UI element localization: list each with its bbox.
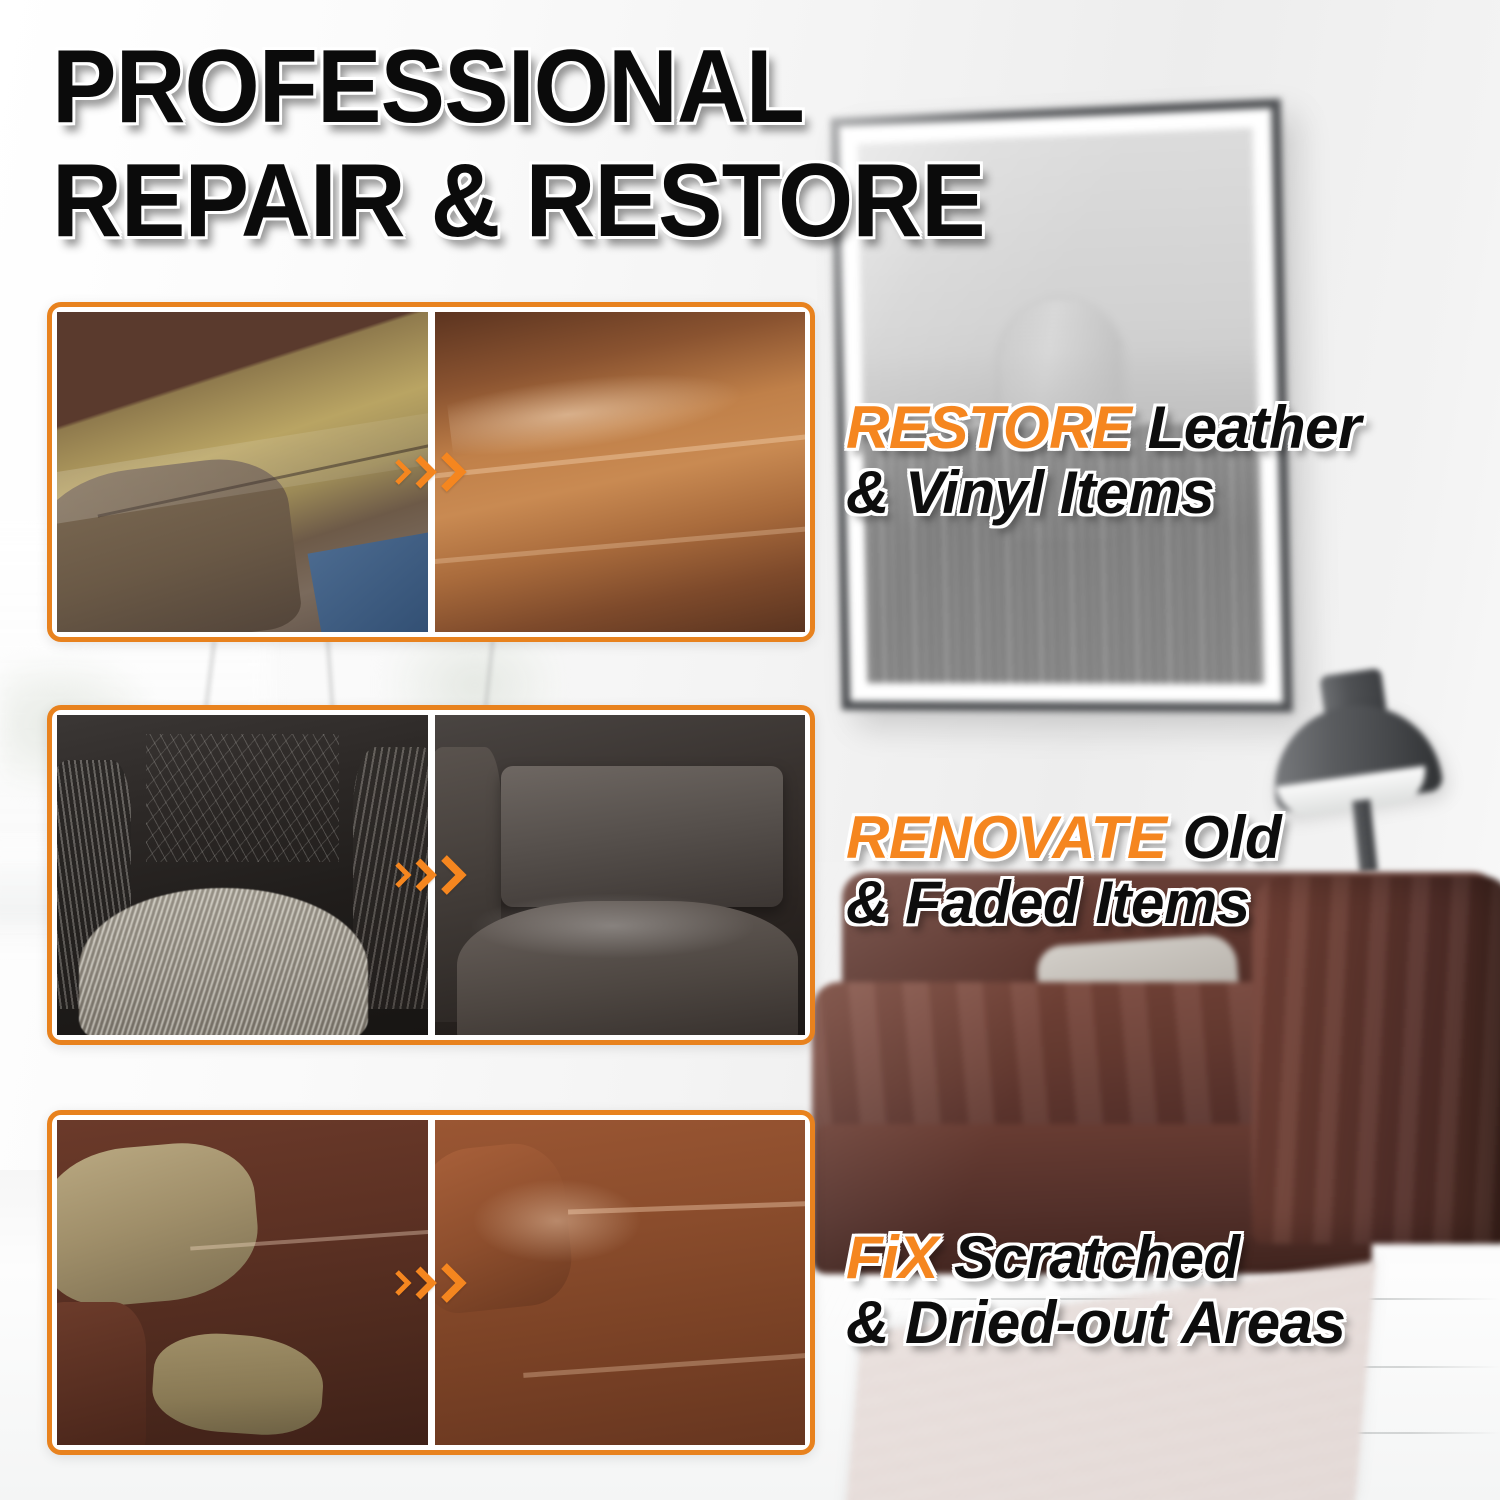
callout-renovate-keyword: RENOVATE	[846, 804, 1166, 871]
before-image-tan-sofa	[57, 312, 428, 632]
callout-restore-line-1: RESTORE Leather	[846, 396, 1500, 461]
after-image-brown-sofa	[435, 1120, 806, 1445]
product-poster: PROFESSIONAL REPAIR & RESTORE	[0, 0, 1500, 1500]
callout-renovate-rest: Old	[1166, 804, 1281, 871]
headline-line-2: REPAIR & RESTORE	[52, 152, 1149, 252]
callout-restore-keyword: RESTORE	[846, 394, 1131, 461]
before-after-panel-brown-sofa	[47, 1110, 815, 1455]
callout-fix-rest: Scratched	[938, 1224, 1240, 1291]
after-image-dark-recliner	[435, 715, 806, 1035]
callout-restore: RESTORE Leather & Vinyl Items	[846, 396, 1500, 526]
callout-renovate: RENOVATE Old & Faded Items	[846, 806, 1500, 936]
before-image-dark-recliner	[57, 715, 428, 1035]
before-image-brown-sofa	[57, 1120, 428, 1445]
callout-fix-line-1: FiX Scratched	[846, 1226, 1500, 1291]
callout-fix: FiX Scratched & Dried-out Areas	[846, 1226, 1500, 1356]
callout-fix-line-2: & Dried-out Areas	[846, 1291, 1500, 1356]
headline: PROFESSIONAL REPAIR & RESTORE	[52, 38, 1232, 252]
before-after-panel-dark-recliner	[47, 705, 815, 1045]
callout-renovate-line-1: RENOVATE Old	[846, 806, 1500, 871]
before-after-panel-tan-sofa	[47, 302, 815, 642]
after-image-tan-sofa	[435, 312, 806, 632]
callout-restore-rest: Leather	[1131, 394, 1360, 461]
callout-fix-keyword: FiX	[846, 1224, 938, 1291]
callout-renovate-line-2: & Faded Items	[846, 871, 1500, 936]
headline-line-1: PROFESSIONAL	[52, 38, 1149, 138]
callout-restore-line-2: & Vinyl Items	[846, 461, 1500, 526]
